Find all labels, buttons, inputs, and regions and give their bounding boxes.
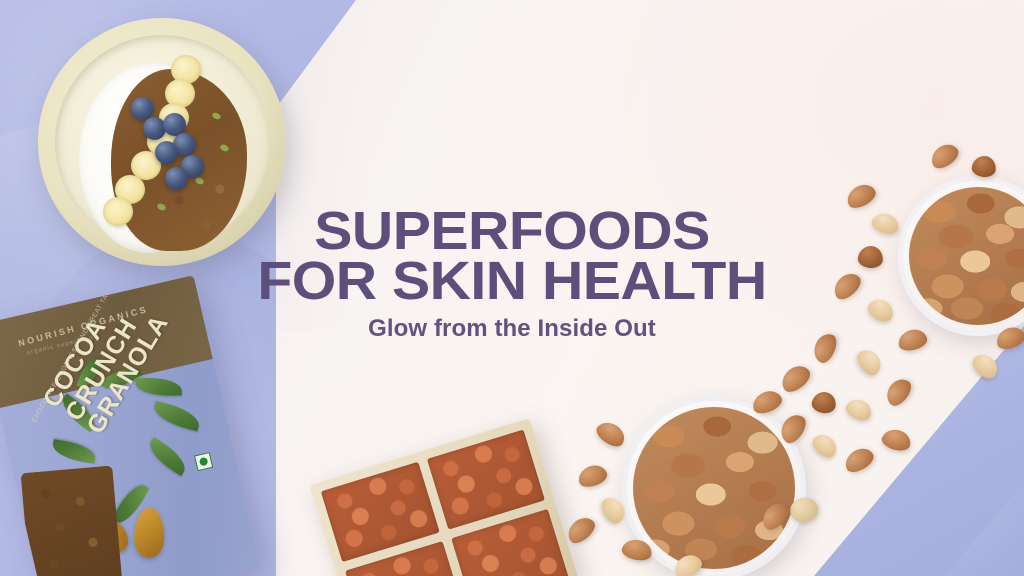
mixed-nuts-fill xyxy=(633,407,795,569)
leaf xyxy=(136,377,182,396)
page-title-line-1: SUPERFOODS xyxy=(0,206,1024,256)
blueberry xyxy=(155,141,178,164)
page-title-line-2: FOR SKIN HEALTH xyxy=(0,256,1024,306)
blueberry xyxy=(165,167,188,190)
cocoa-pod xyxy=(134,507,165,558)
page-subtitle: Glow from the Inside Out xyxy=(0,315,1024,343)
pumpkin-seed xyxy=(219,144,230,153)
leaf xyxy=(144,437,191,476)
leaf xyxy=(151,401,202,432)
headline-block: SUPERFOODS FOR SKIN HEALTH Glow from the… xyxy=(0,206,1024,343)
pumpkin-seed xyxy=(194,177,205,186)
pumpkin-seed xyxy=(211,111,222,120)
leaf xyxy=(51,439,97,464)
packet-granola-window xyxy=(21,465,126,576)
superfoods-banner: NOURISH ORGANICS organic superfood COCOA… xyxy=(0,0,1024,576)
